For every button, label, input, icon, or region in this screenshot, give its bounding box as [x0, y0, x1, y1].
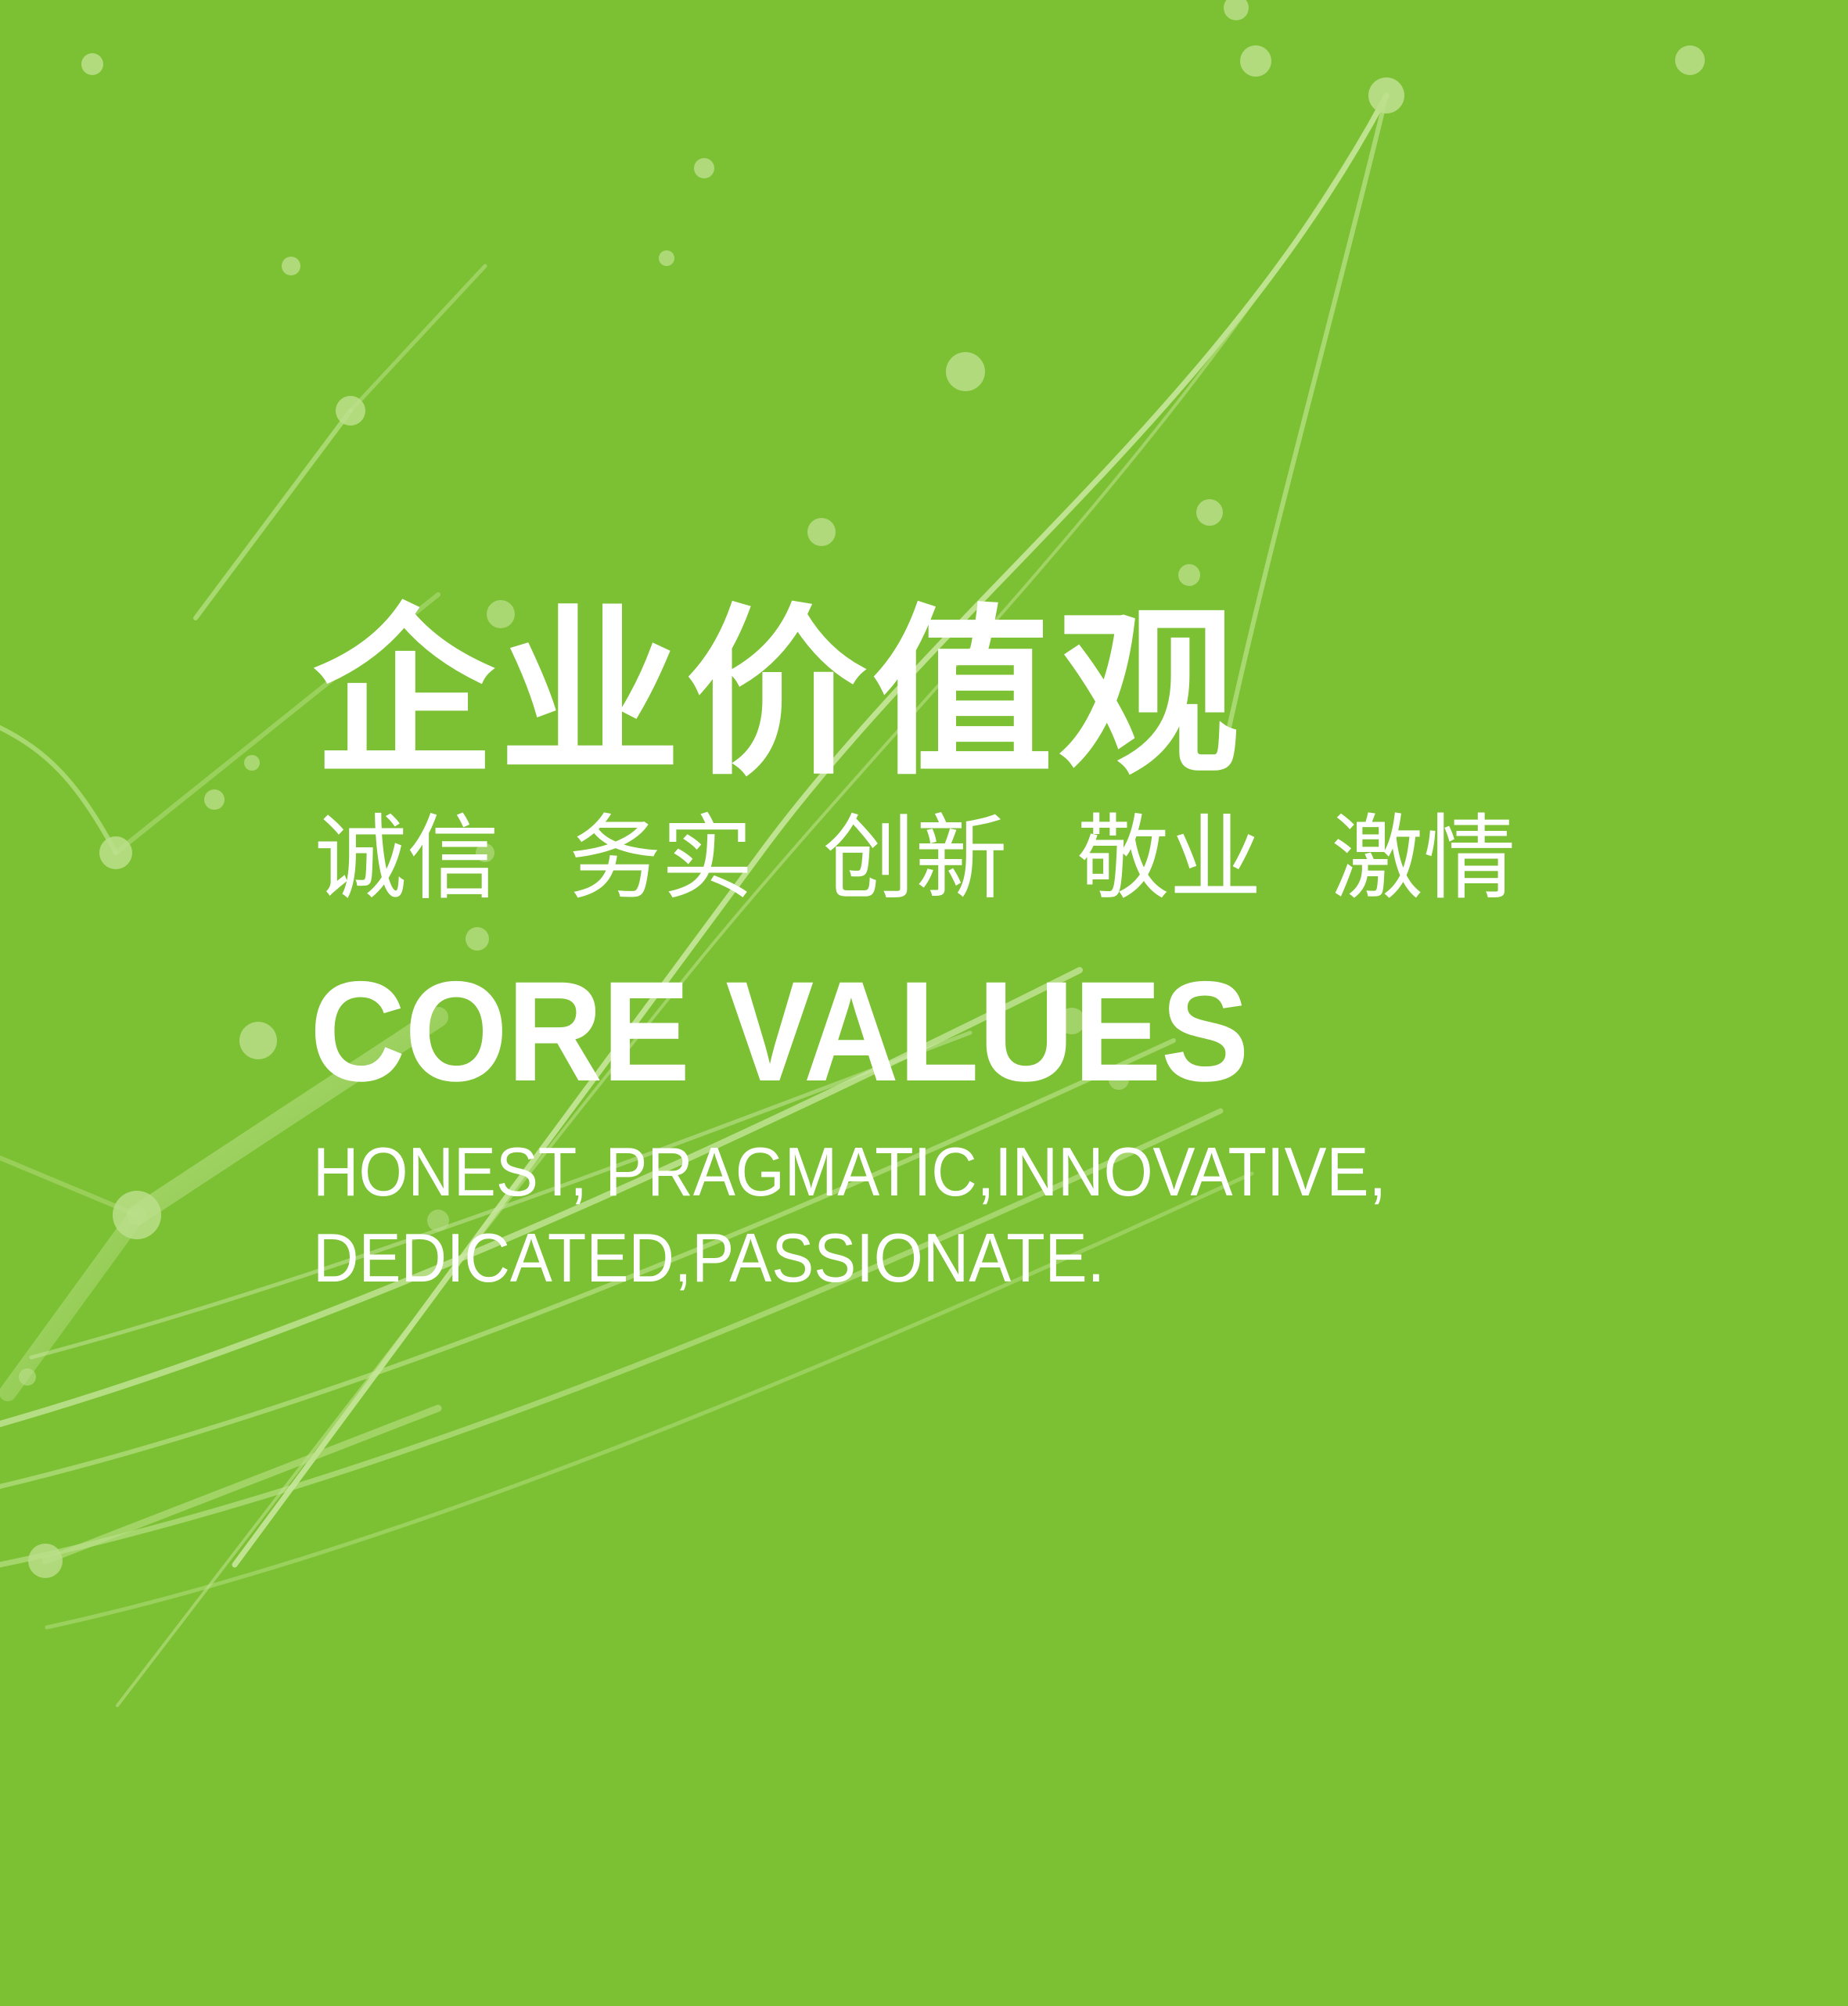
english-values-line-2: DEDICATED,PASSIONATE. — [313, 1215, 1573, 1302]
value-word-passionate-cn: 激情 — [1331, 803, 1515, 916]
node-dot — [19, 1368, 36, 1386]
node-dot — [28, 1544, 63, 1578]
headline-block: 企业价值观 诚信 务实 创新 敬业 激情 CORE VALUES HONEST,… — [313, 602, 1682, 1302]
node-dot — [807, 518, 836, 546]
node-dot — [244, 755, 260, 771]
node-dot — [336, 396, 365, 426]
value-word-dedicated-cn: 敬业 — [1077, 803, 1261, 916]
value-word-honest-cn: 诚信 — [315, 803, 499, 916]
core-values-english-list: HONEST, PRAGMATIC,INNOVATIVE, DEDICATED,… — [313, 1129, 1573, 1303]
english-values-line-1: HONEST, PRAGMATIC,INNOVATIVE, — [313, 1129, 1573, 1216]
node-dot — [1178, 564, 1200, 586]
core-values-chinese-list: 诚信 务实 创新 敬业 激情 — [315, 803, 1682, 916]
value-word-innovative-cn: 创新 — [823, 803, 1008, 916]
node-dot — [659, 250, 674, 266]
page-title-chinese: 企业价值观 — [313, 602, 1682, 788]
node-dot — [946, 352, 985, 391]
node-dot — [99, 836, 132, 869]
node-dot — [239, 1022, 277, 1059]
node-dot — [1368, 77, 1404, 113]
node-dot — [81, 53, 103, 75]
node-dot — [1675, 45, 1705, 75]
page-title-english: CORE VALUES — [310, 960, 1586, 1102]
node-dot — [204, 789, 225, 810]
core-values-poster: 企业价值观 诚信 务实 创新 敬业 激情 CORE VALUES HONEST,… — [0, 0, 1848, 2006]
node-dot — [1196, 499, 1223, 526]
node-dot — [694, 158, 714, 178]
node-dot — [113, 1191, 161, 1239]
node-dot — [1240, 45, 1271, 77]
value-word-pragmatic-cn: 务实 — [569, 803, 753, 916]
node-dot — [1224, 0, 1249, 20]
node-dot — [282, 257, 300, 275]
